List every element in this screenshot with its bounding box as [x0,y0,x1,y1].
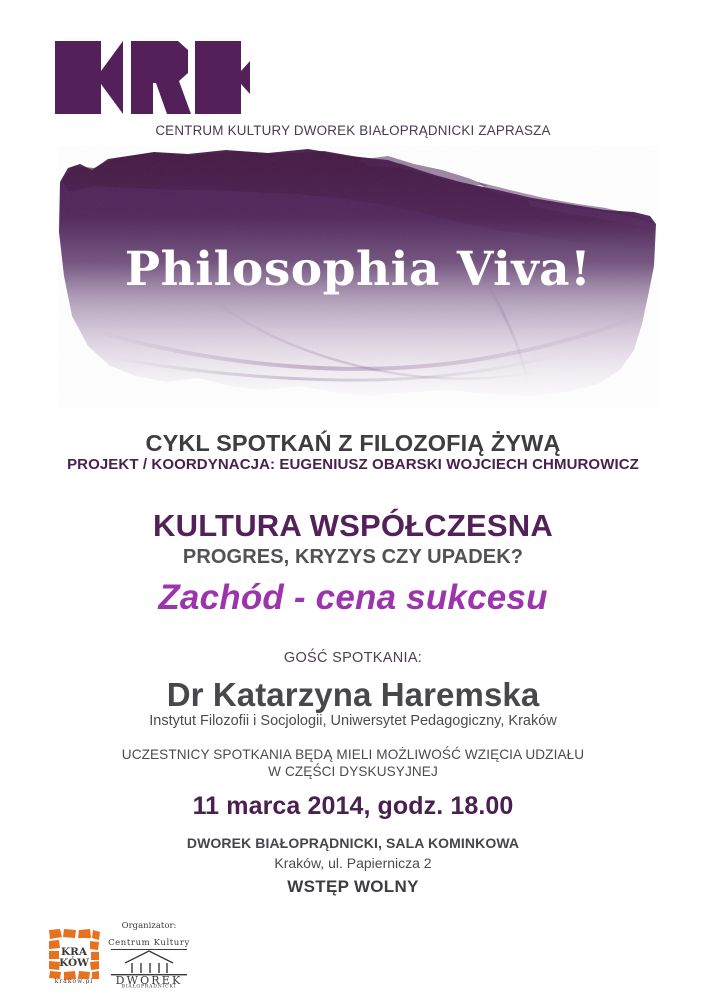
series-cycle-title: CYKL SPOTKAŃ Z FILOZOFIĄ ŻYWĄ [0,430,706,457]
krakow-city-logo: KRA KÓW krakow.pl [47,928,101,984]
event-venue: DWOREK BIAŁOPRĄDNICKI, SALA KOMINKOWA [0,835,706,851]
brush-stroke-banner: Philosophia Viva! [58,146,658,408]
divider-top [111,949,187,950]
guest-label: GOŚĆ SPOTKANIA: [0,650,706,666]
event-datetime: 11 marca 2014, godz. 18.00 [0,792,706,821]
participation-note-line1: UCZESTNICY SPOTKANIA BĘDĄ MIELI MOŻLIWOŚ… [0,747,706,762]
organizer-label: Organizator: [122,921,177,931]
krakow-logo-line2: KÓW [59,955,89,969]
admission-notice: WSTĘP WOLNY [0,877,706,897]
guest-affiliation: Instytut Filozofii i Socjologii, Uniwers… [0,713,706,729]
dworek-building-icon [125,951,173,973]
dworek-logo-line1: Centrum Kultury [108,938,190,948]
dworek-organizer-logo: Organizator: Centrum Kultury DWOREK BIAŁ… [103,918,195,988]
lecture-title: Zachód - cena sukcesu [0,578,706,618]
krk-logo [55,41,250,114]
guest-name: Dr Katarzyna Haremska [0,676,706,714]
event-address: Kraków, ul. Papiernicza 2 [0,855,706,871]
dworek-logo-line3: BIAŁOPRĄDNICKI [122,984,177,989]
hero-title: Philosophia Viva! [58,242,658,297]
series-coordination: PROJEKT / KOORDYNACJA: EUGENIUSZ OBARSKI… [0,456,706,473]
krakow-logo-url: krakow.pl [55,978,93,984]
poster-root: CENTRUM KULTURY DWOREK BIAŁOPRĄDNICKI ZA… [0,0,706,1000]
topic-subtitle: PROGRES, KRYZYS CZY UPADEK? [0,546,706,569]
topic-title: KULTURA WSPÓŁCZESNA [0,508,706,544]
participation-note-line2: W CZĘŚCI DYSKUSYJNEJ [0,764,706,779]
invitation-line: CENTRUM KULTURY DWOREK BIAŁOPRĄDNICKI ZA… [0,123,706,138]
